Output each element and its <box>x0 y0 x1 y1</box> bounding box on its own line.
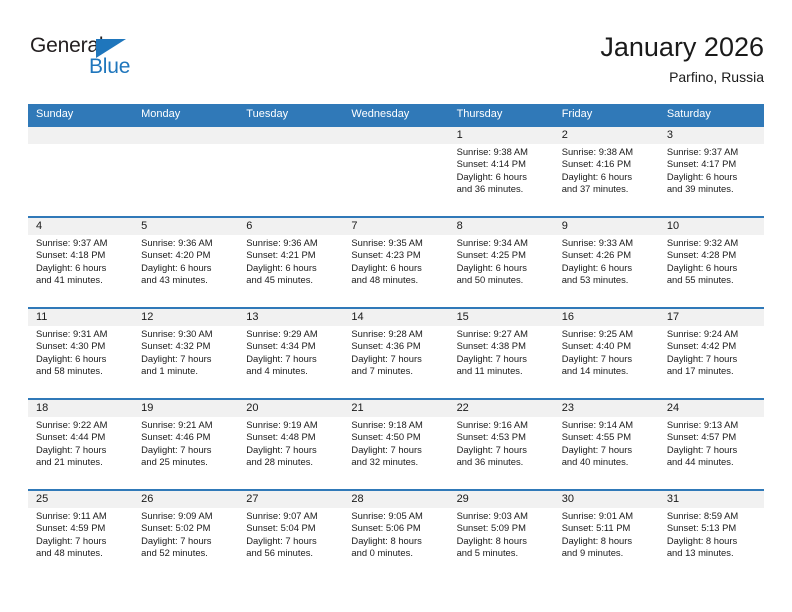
sunset-text: Sunset: 4:38 PM <box>457 340 548 352</box>
daylight-text: Daylight: 7 hours <box>141 353 232 365</box>
day-number[interactable]: 4 <box>28 218 133 235</box>
day-number[interactable]: 20 <box>238 400 343 417</box>
weekday-header-tuesday: Tuesday <box>238 104 343 125</box>
calendar-week-row: 25 26 27 28 29 30 31 Sunrise: 9:11 AM Su… <box>28 489 764 580</box>
sunset-text: Sunset: 4:32 PM <box>141 340 232 352</box>
sunrise-text: Sunrise: 9:37 AM <box>667 146 758 158</box>
sunset-text: Sunset: 5:06 PM <box>351 522 442 534</box>
sunset-text: Sunset: 4:40 PM <box>562 340 653 352</box>
sunrise-text: Sunrise: 9:22 AM <box>36 419 127 431</box>
day-number[interactable]: 22 <box>449 400 554 417</box>
day-number[interactable]: 28 <box>343 491 448 508</box>
day-cell[interactable]: Sunrise: 8:59 AM Sunset: 5:13 PM Dayligh… <box>659 508 764 580</box>
day-cell[interactable]: Sunrise: 9:36 AM Sunset: 4:21 PM Dayligh… <box>238 235 343 307</box>
weekday-header-monday: Monday <box>133 104 238 125</box>
sunset-text: Sunset: 5:13 PM <box>667 522 758 534</box>
daylight-text: Daylight: 6 hours <box>667 262 758 274</box>
daylight-text-cont: and 9 minutes. <box>562 547 653 559</box>
calendar-grid: Sunday Monday Tuesday Wednesday Thursday… <box>28 104 764 580</box>
title-block: January 2026 Parfino, Russia <box>600 30 764 87</box>
sunrise-text: Sunrise: 9:21 AM <box>141 419 232 431</box>
day-number[interactable]: 13 <box>238 309 343 326</box>
day-number[interactable] <box>238 127 343 144</box>
sunrise-text: Sunrise: 9:24 AM <box>667 328 758 340</box>
daylight-text: Daylight: 8 hours <box>457 535 548 547</box>
sunset-text: Sunset: 4:28 PM <box>667 249 758 261</box>
sunrise-text: Sunrise: 9:32 AM <box>667 237 758 249</box>
day-number[interactable]: 30 <box>554 491 659 508</box>
daylight-text: Daylight: 7 hours <box>667 353 758 365</box>
daylight-text-cont: and 4 minutes. <box>246 365 337 377</box>
day-cell[interactable]: Sunrise: 9:13 AM Sunset: 4:57 PM Dayligh… <box>659 417 764 489</box>
weekday-header-thursday: Thursday <box>449 104 554 125</box>
sunrise-text: Sunrise: 9:37 AM <box>36 237 127 249</box>
day-cell[interactable]: Sunrise: 9:07 AM Sunset: 5:04 PM Dayligh… <box>238 508 343 580</box>
general-blue-logo[interactable]: General Blue <box>30 34 160 86</box>
sunrise-text: Sunrise: 9:38 AM <box>457 146 548 158</box>
daylight-text: Daylight: 7 hours <box>667 444 758 456</box>
sunset-text: Sunset: 4:20 PM <box>141 249 232 261</box>
sunset-text: Sunset: 5:09 PM <box>457 522 548 534</box>
daylight-text-cont: and 43 minutes. <box>141 274 232 286</box>
daylight-text-cont: and 32 minutes. <box>351 456 442 468</box>
sunrise-text: Sunrise: 9:36 AM <box>246 237 337 249</box>
daylight-text: Daylight: 7 hours <box>351 353 442 365</box>
sunset-text: Sunset: 4:57 PM <box>667 431 758 443</box>
daylight-text-cont: and 56 minutes. <box>246 547 337 559</box>
daylight-text-cont: and 0 minutes. <box>351 547 442 559</box>
daylight-text: Daylight: 7 hours <box>141 444 232 456</box>
sunset-text: Sunset: 4:50 PM <box>351 431 442 443</box>
daylight-text-cont: and 53 minutes. <box>562 274 653 286</box>
sunrise-text: Sunrise: 9:07 AM <box>246 510 337 522</box>
week-daynumber-band: 1 2 3 <box>28 127 764 144</box>
day-cell[interactable]: Sunrise: 9:25 AM Sunset: 4:40 PM Dayligh… <box>554 326 659 398</box>
logo-text-blue: Blue <box>89 55 130 79</box>
sunrise-text: Sunrise: 9:28 AM <box>351 328 442 340</box>
sunset-text: Sunset: 4:17 PM <box>667 158 758 170</box>
daylight-text: Daylight: 7 hours <box>246 444 337 456</box>
daylight-text-cont: and 1 minute. <box>141 365 232 377</box>
day-cell[interactable]: Sunrise: 9:24 AM Sunset: 4:42 PM Dayligh… <box>659 326 764 398</box>
day-number[interactable]: 21 <box>343 400 448 417</box>
day-cell[interactable]: Sunrise: 9:09 AM Sunset: 5:02 PM Dayligh… <box>133 508 238 580</box>
day-cell[interactable]: Sunrise: 9:28 AM Sunset: 4:36 PM Dayligh… <box>343 326 448 398</box>
daylight-text: Daylight: 6 hours <box>36 353 127 365</box>
daylight-text: Daylight: 6 hours <box>457 262 548 274</box>
sunset-text: Sunset: 5:02 PM <box>141 522 232 534</box>
daylight-text: Daylight: 7 hours <box>562 353 653 365</box>
day-cell[interactable]: Sunrise: 9:05 AM Sunset: 5:06 PM Dayligh… <box>343 508 448 580</box>
daylight-text: Daylight: 6 hours <box>667 171 758 183</box>
daylight-text-cont: and 25 minutes. <box>141 456 232 468</box>
day-number[interactable]: 26 <box>133 491 238 508</box>
day-number[interactable] <box>28 127 133 144</box>
day-number[interactable]: 23 <box>554 400 659 417</box>
daylight-text: Daylight: 6 hours <box>457 171 548 183</box>
sunset-text: Sunset: 4:55 PM <box>562 431 653 443</box>
day-cell[interactable]: Sunrise: 9:34 AM Sunset: 4:25 PM Dayligh… <box>449 235 554 307</box>
daylight-text: Daylight: 7 hours <box>141 535 232 547</box>
day-number[interactable]: 10 <box>659 218 764 235</box>
day-number[interactable]: 18 <box>28 400 133 417</box>
page-title: January 2026 <box>600 30 764 64</box>
sunset-text: Sunset: 4:23 PM <box>351 249 442 261</box>
day-cell[interactable] <box>133 144 238 216</box>
daylight-text-cont: and 13 minutes. <box>667 547 758 559</box>
sunrise-text: Sunrise: 9:35 AM <box>351 237 442 249</box>
sunrise-text: Sunrise: 9:16 AM <box>457 419 548 431</box>
daylight-text: Daylight: 6 hours <box>36 262 127 274</box>
day-cell[interactable]: Sunrise: 9:14 AM Sunset: 4:55 PM Dayligh… <box>554 417 659 489</box>
daylight-text: Daylight: 7 hours <box>36 535 127 547</box>
sunrise-text: Sunrise: 9:30 AM <box>141 328 232 340</box>
daylight-text: Daylight: 6 hours <box>562 171 653 183</box>
daylight-text: Daylight: 7 hours <box>457 353 548 365</box>
day-number[interactable]: 5 <box>133 218 238 235</box>
weekday-header-wednesday: Wednesday <box>343 104 448 125</box>
sunset-text: Sunset: 4:14 PM <box>457 158 548 170</box>
week-detail-band: Sunrise: 9:22 AM Sunset: 4:44 PM Dayligh… <box>28 417 764 489</box>
day-number[interactable]: 25 <box>28 491 133 508</box>
daylight-text-cont: and 58 minutes. <box>36 365 127 377</box>
sunrise-text: Sunrise: 9:29 AM <box>246 328 337 340</box>
sunset-text: Sunset: 4:42 PM <box>667 340 758 352</box>
sunset-text: Sunset: 5:11 PM <box>562 522 653 534</box>
sunrise-text: Sunrise: 9:31 AM <box>36 328 127 340</box>
daylight-text-cont: and 5 minutes. <box>457 547 548 559</box>
calendar-week-row: 1 2 3 <box>28 125 764 216</box>
sunrise-text: Sunrise: 9:27 AM <box>457 328 548 340</box>
week-daynumber-band: 4 5 6 7 8 9 10 <box>28 218 764 235</box>
sunset-text: Sunset: 4:44 PM <box>36 431 127 443</box>
daylight-text-cont: and 37 minutes. <box>562 183 653 195</box>
day-number[interactable]: 29 <box>449 491 554 508</box>
sunset-text: Sunset: 5:04 PM <box>246 522 337 534</box>
page-header: General Blue January 2026 Parfino, Russi… <box>28 30 764 98</box>
week-detail-band: Sunrise: 9:37 AM Sunset: 4:18 PM Dayligh… <box>28 235 764 307</box>
week-daynumber-band: 11 12 13 14 15 16 17 <box>28 309 764 326</box>
calendar-week-row: 4 5 6 7 8 9 10 Sunrise: 9:37 AM Sunset: … <box>28 216 764 307</box>
day-number[interactable]: 12 <box>133 309 238 326</box>
day-cell[interactable]: Sunrise: 9:30 AM Sunset: 4:32 PM Dayligh… <box>133 326 238 398</box>
day-cell[interactable]: Sunrise: 9:33 AM Sunset: 4:26 PM Dayligh… <box>554 235 659 307</box>
day-cell[interactable]: Sunrise: 9:37 AM Sunset: 4:17 PM Dayligh… <box>659 144 764 216</box>
weekday-header-saturday: Saturday <box>659 104 764 125</box>
calendar-page: General Blue January 2026 Parfino, Russi… <box>0 0 792 612</box>
daylight-text: Daylight: 7 hours <box>246 535 337 547</box>
day-number[interactable] <box>343 127 448 144</box>
sunset-text: Sunset: 4:21 PM <box>246 249 337 261</box>
daylight-text: Daylight: 7 hours <box>562 444 653 456</box>
sunset-text: Sunset: 4:18 PM <box>36 249 127 261</box>
day-number[interactable]: 24 <box>659 400 764 417</box>
sunrise-text: Sunrise: 8:59 AM <box>667 510 758 522</box>
daylight-text-cont: and 44 minutes. <box>667 456 758 468</box>
daylight-text: Daylight: 8 hours <box>351 535 442 547</box>
day-cell[interactable] <box>343 144 448 216</box>
daylight-text-cont: and 45 minutes. <box>246 274 337 286</box>
day-number[interactable]: 19 <box>133 400 238 417</box>
sunrise-text: Sunrise: 9:19 AM <box>246 419 337 431</box>
day-cell[interactable]: Sunrise: 9:38 AM Sunset: 4:16 PM Dayligh… <box>554 144 659 216</box>
sunrise-text: Sunrise: 9:13 AM <box>667 419 758 431</box>
sunset-text: Sunset: 4:16 PM <box>562 158 653 170</box>
daylight-text-cont: and 40 minutes. <box>562 456 653 468</box>
day-number[interactable]: 15 <box>449 309 554 326</box>
day-cell[interactable]: Sunrise: 9:11 AM Sunset: 4:59 PM Dayligh… <box>28 508 133 580</box>
daylight-text-cont: and 55 minutes. <box>667 274 758 286</box>
weekday-header-friday: Friday <box>554 104 659 125</box>
day-cell[interactable]: Sunrise: 9:01 AM Sunset: 5:11 PM Dayligh… <box>554 508 659 580</box>
daylight-text-cont: and 28 minutes. <box>246 456 337 468</box>
sunrise-text: Sunrise: 9:25 AM <box>562 328 653 340</box>
weekday-header-row: Sunday Monday Tuesday Wednesday Thursday… <box>28 104 764 125</box>
week-daynumber-band: 25 26 27 28 29 30 31 <box>28 491 764 508</box>
daylight-text: Daylight: 8 hours <box>562 535 653 547</box>
day-cell[interactable] <box>28 144 133 216</box>
sunrise-text: Sunrise: 9:05 AM <box>351 510 442 522</box>
sunrise-text: Sunrise: 9:36 AM <box>141 237 232 249</box>
sunrise-text: Sunrise: 9:38 AM <box>562 146 653 158</box>
sunrise-text: Sunrise: 9:34 AM <box>457 237 548 249</box>
day-number[interactable]: 6 <box>238 218 343 235</box>
day-number[interactable]: 1 <box>449 127 554 144</box>
sunset-text: Sunset: 4:53 PM <box>457 431 548 443</box>
daylight-text: Daylight: 6 hours <box>246 262 337 274</box>
day-number[interactable] <box>133 127 238 144</box>
sunset-text: Sunset: 4:34 PM <box>246 340 337 352</box>
sunrise-text: Sunrise: 9:03 AM <box>457 510 548 522</box>
day-number[interactable]: 3 <box>659 127 764 144</box>
day-cell[interactable]: Sunrise: 9:32 AM Sunset: 4:28 PM Dayligh… <box>659 235 764 307</box>
daylight-text-cont: and 39 minutes. <box>667 183 758 195</box>
day-cell[interactable] <box>238 144 343 216</box>
daylight-text-cont: and 7 minutes. <box>351 365 442 377</box>
sunrise-text: Sunrise: 9:11 AM <box>36 510 127 522</box>
week-daynumber-band: 18 19 20 21 22 23 24 <box>28 400 764 417</box>
daylight-text-cont: and 36 minutes. <box>457 456 548 468</box>
day-cell[interactable]: Sunrise: 9:22 AM Sunset: 4:44 PM Dayligh… <box>28 417 133 489</box>
day-cell[interactable]: Sunrise: 9:03 AM Sunset: 5:09 PM Dayligh… <box>449 508 554 580</box>
day-number[interactable]: 2 <box>554 127 659 144</box>
daylight-text-cont: and 48 minutes. <box>36 547 127 559</box>
sunrise-text: Sunrise: 9:18 AM <box>351 419 442 431</box>
sunset-text: Sunset: 4:25 PM <box>457 249 548 261</box>
sunset-text: Sunset: 4:30 PM <box>36 340 127 352</box>
day-number[interactable]: 31 <box>659 491 764 508</box>
day-number[interactable]: 27 <box>238 491 343 508</box>
week-detail-band: Sunrise: 9:31 AM Sunset: 4:30 PM Dayligh… <box>28 326 764 398</box>
sunset-text: Sunset: 4:48 PM <box>246 431 337 443</box>
sunset-text: Sunset: 4:36 PM <box>351 340 442 352</box>
day-cell[interactable]: Sunrise: 9:27 AM Sunset: 4:38 PM Dayligh… <box>449 326 554 398</box>
sunrise-text: Sunrise: 9:33 AM <box>562 237 653 249</box>
weekday-header-sunday: Sunday <box>28 104 133 125</box>
week-detail-band: Sunrise: 9:38 AM Sunset: 4:14 PM Dayligh… <box>28 144 764 216</box>
daylight-text-cont: and 52 minutes. <box>141 547 232 559</box>
daylight-text: Daylight: 7 hours <box>351 444 442 456</box>
daylight-text-cont: and 14 minutes. <box>562 365 653 377</box>
page-subtitle-location: Parfino, Russia <box>600 67 764 87</box>
sunrise-text: Sunrise: 9:09 AM <box>141 510 232 522</box>
day-number[interactable]: 16 <box>554 309 659 326</box>
daylight-text: Daylight: 7 hours <box>246 353 337 365</box>
daylight-text-cont: and 17 minutes. <box>667 365 758 377</box>
daylight-text: Daylight: 6 hours <box>351 262 442 274</box>
sunset-text: Sunset: 4:46 PM <box>141 431 232 443</box>
day-number[interactable]: 14 <box>343 309 448 326</box>
daylight-text-cont: and 41 minutes. <box>36 274 127 286</box>
sunset-text: Sunset: 4:59 PM <box>36 522 127 534</box>
day-cell[interactable]: Sunrise: 9:29 AM Sunset: 4:34 PM Dayligh… <box>238 326 343 398</box>
day-cell[interactable]: Sunrise: 9:19 AM Sunset: 4:48 PM Dayligh… <box>238 417 343 489</box>
calendar-week-row: 11 12 13 14 15 16 17 Sunrise: 9:31 AM Su… <box>28 307 764 398</box>
daylight-text-cont: and 48 minutes. <box>351 274 442 286</box>
day-cell[interactable]: Sunrise: 9:16 AM Sunset: 4:53 PM Dayligh… <box>449 417 554 489</box>
daylight-text: Daylight: 6 hours <box>562 262 653 274</box>
week-detail-band: Sunrise: 9:11 AM Sunset: 4:59 PM Dayligh… <box>28 508 764 580</box>
day-cell[interactable]: Sunrise: 9:35 AM Sunset: 4:23 PM Dayligh… <box>343 235 448 307</box>
daylight-text-cont: and 11 minutes. <box>457 365 548 377</box>
daylight-text: Daylight: 7 hours <box>36 444 127 456</box>
daylight-text-cont: and 36 minutes. <box>457 183 548 195</box>
daylight-text: Daylight: 6 hours <box>141 262 232 274</box>
sunrise-text: Sunrise: 9:14 AM <box>562 419 653 431</box>
day-number[interactable]: 17 <box>659 309 764 326</box>
day-cell[interactable]: Sunrise: 9:36 AM Sunset: 4:20 PM Dayligh… <box>133 235 238 307</box>
day-cell[interactable]: Sunrise: 9:37 AM Sunset: 4:18 PM Dayligh… <box>28 235 133 307</box>
day-number[interactable]: 9 <box>554 218 659 235</box>
daylight-text: Daylight: 7 hours <box>457 444 548 456</box>
day-number[interactable]: 11 <box>28 309 133 326</box>
day-cell[interactable]: Sunrise: 9:38 AM Sunset: 4:14 PM Dayligh… <box>449 144 554 216</box>
day-cell[interactable]: Sunrise: 9:18 AM Sunset: 4:50 PM Dayligh… <box>343 417 448 489</box>
daylight-text-cont: and 21 minutes. <box>36 456 127 468</box>
day-number[interactable]: 8 <box>449 218 554 235</box>
day-number[interactable]: 7 <box>343 218 448 235</box>
calendar-week-row: 18 19 20 21 22 23 24 Sunrise: 9:22 AM Su… <box>28 398 764 489</box>
sunrise-text: Sunrise: 9:01 AM <box>562 510 653 522</box>
daylight-text-cont: and 50 minutes. <box>457 274 548 286</box>
day-cell[interactable]: Sunrise: 9:21 AM Sunset: 4:46 PM Dayligh… <box>133 417 238 489</box>
daylight-text: Daylight: 8 hours <box>667 535 758 547</box>
sunset-text: Sunset: 4:26 PM <box>562 249 653 261</box>
day-cell[interactable]: Sunrise: 9:31 AM Sunset: 4:30 PM Dayligh… <box>28 326 133 398</box>
